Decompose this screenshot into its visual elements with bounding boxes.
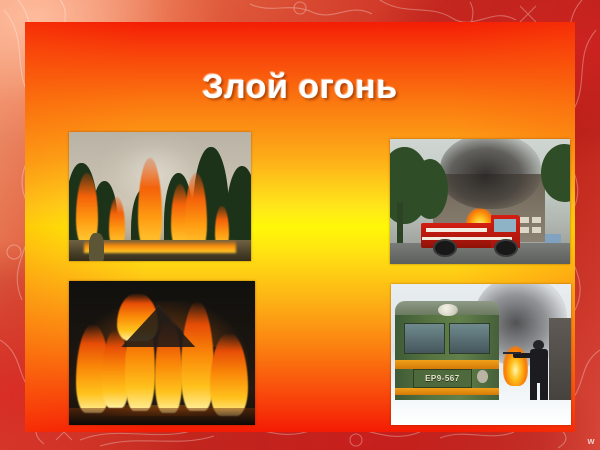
headlamp-icon	[438, 304, 458, 317]
ground-layer	[69, 408, 255, 425]
locomotive-light	[477, 370, 488, 383]
building-fire-photo	[390, 139, 570, 264]
person-silhouette	[89, 233, 104, 261]
window-shape	[520, 227, 529, 233]
fire-truck-window	[494, 219, 516, 232]
forest-fire-photo	[69, 132, 251, 261]
snow-ground-layer	[391, 400, 571, 425]
ground-fire-line	[84, 240, 237, 253]
fire-truck-wheel	[433, 239, 457, 257]
locomotive-stripe	[395, 360, 499, 368]
tree-trunk	[397, 202, 402, 247]
fire-truck-stripe	[426, 228, 487, 232]
fire-truck-wheel	[494, 239, 518, 257]
train-number-plate: ЕР9-567	[413, 369, 473, 388]
smoke-layer	[440, 139, 541, 209]
structure-shape	[549, 318, 571, 400]
house-fire-photo	[69, 281, 255, 425]
fire-hose	[503, 352, 521, 354]
window-shape	[532, 217, 541, 223]
slide: Злой огонь	[0, 0, 600, 450]
forest-fire-scene	[69, 132, 251, 261]
firefighter-arm	[513, 353, 533, 358]
window-shape	[532, 227, 541, 233]
locomotive-window	[449, 323, 491, 353]
train-fire-photo: ЕР9-567	[391, 284, 571, 425]
page-title: Злой огонь	[25, 68, 575, 107]
locomotive-stripe	[395, 388, 499, 395]
house-fire-scene	[69, 281, 255, 425]
train-fire-scene: ЕР9-567	[391, 284, 571, 425]
building-fire-scene	[390, 139, 570, 264]
watermark: w	[587, 436, 594, 446]
content-panel: Злой огонь	[25, 22, 575, 432]
tree-shape	[412, 159, 448, 219]
locomotive-window	[404, 323, 446, 353]
window-shape	[520, 217, 529, 223]
